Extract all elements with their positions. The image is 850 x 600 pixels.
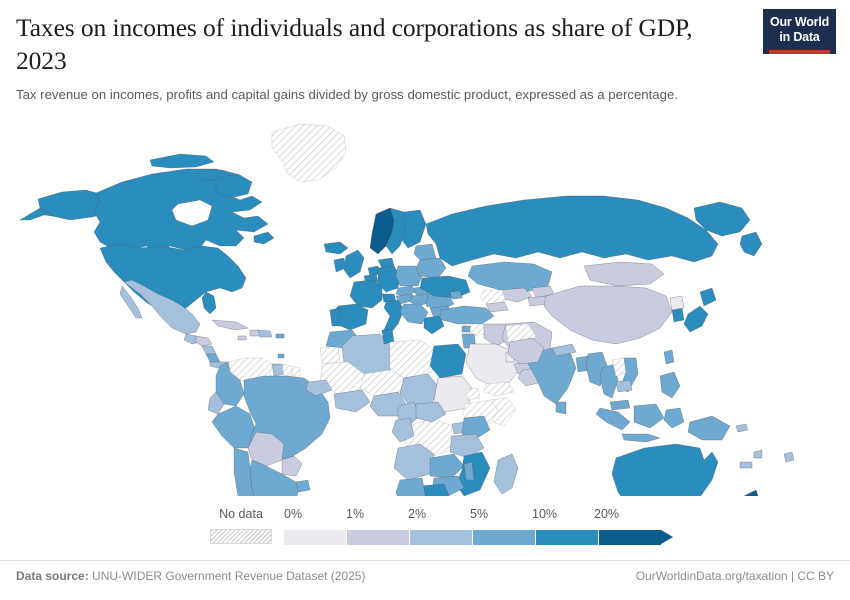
- country-canada-arctic-1[interactable]: [150, 154, 214, 168]
- country-lebanon[interactable]: [462, 326, 470, 332]
- legend-bin-5[interactable]: [598, 530, 661, 545]
- map-countries: [20, 124, 794, 496]
- country-puerto-rico[interactable]: [276, 334, 284, 338]
- country-taiwan[interactable]: [664, 350, 674, 364]
- country-nepal[interactable]: [552, 344, 576, 356]
- country-egypt[interactable]: [430, 344, 466, 378]
- country-jamaica[interactable]: [238, 336, 246, 340]
- legend-tick-3: 5%: [470, 508, 488, 521]
- chart-header: Taxes on incomes of individuals and corp…: [0, 0, 850, 105]
- world-choropleth-map[interactable]: [0, 96, 850, 496]
- country-indonesia-sumatra[interactable]: [596, 408, 630, 430]
- country-italy[interactable]: [384, 300, 404, 334]
- legend-tick-row: 0% 1% 2% 5% 10% 20%: [284, 508, 673, 524]
- data-source-text: UNU-WIDER Government Revenue Dataset (20…: [89, 569, 366, 583]
- country-nicaragua[interactable]: [202, 346, 216, 354]
- map-legend: No data 0% 1% 2% 5% 10% 20%: [0, 508, 850, 554]
- country-south-korea[interactable]: [672, 308, 684, 322]
- map-svg: [0, 96, 850, 496]
- country-chad[interactable]: [400, 374, 438, 406]
- country-honduras[interactable]: [196, 336, 212, 346]
- country-portugal[interactable]: [330, 308, 340, 326]
- country-uruguay[interactable]: [296, 480, 310, 492]
- legend-tick-4: 10%: [532, 508, 557, 521]
- country-georgia-armenia[interactable]: [486, 302, 508, 312]
- owid-logo-line1: Our World: [769, 15, 830, 30]
- legend-tick-5: 20%: [594, 508, 619, 521]
- country-czechia[interactable]: [396, 286, 416, 296]
- legend-arrow-cap-icon: [661, 530, 673, 544]
- country-baltics[interactable]: [414, 244, 436, 260]
- legend-bin-3[interactable]: [472, 530, 535, 545]
- country-iceland[interactable]: [324, 242, 348, 254]
- owid-chart: Taxes on incomes of individuals and corp…: [0, 0, 850, 600]
- country-china[interactable]: [544, 286, 672, 344]
- legend-inner: No data 0% 1% 2% 5% 10% 20%: [210, 508, 673, 545]
- country-canada-baffin[interactable]: [216, 174, 252, 198]
- country-united-kingdom[interactable]: [344, 250, 364, 278]
- country-greece[interactable]: [424, 316, 444, 334]
- country-indonesia-sulawesi[interactable]: [664, 408, 684, 428]
- country-ghana-ivory[interactable]: [334, 390, 370, 412]
- owid-logo[interactable]: Our World in Data: [763, 9, 836, 54]
- legend-color-bar: [284, 530, 673, 545]
- country-indonesia-borneo[interactable]: [634, 404, 664, 428]
- country-trinidad[interactable]: [278, 354, 284, 358]
- country-mongolia[interactable]: [584, 262, 664, 286]
- legend-tick-2: 2%: [408, 508, 426, 521]
- legend-bin-4[interactable]: [535, 530, 598, 545]
- owid-logo-line2: in Data: [769, 30, 830, 45]
- page-title: Taxes on incomes of individuals and corp…: [16, 12, 746, 77]
- country-libya[interactable]: [390, 340, 434, 378]
- data-source-label: Data source:: [16, 569, 89, 583]
- owid-logo-rule: [769, 50, 830, 54]
- country-fiji[interactable]: [784, 452, 794, 462]
- country-french-guiana[interactable]: [292, 366, 300, 376]
- country-cambodia[interactable]: [616, 380, 632, 392]
- country-turkey[interactable]: [440, 306, 494, 324]
- legend-scale[interactable]: 0% 1% 2% 5% 10% 20%: [284, 508, 673, 545]
- country-japan-north[interactable]: [700, 288, 716, 306]
- country-papua-new-guinea[interactable]: [688, 416, 730, 440]
- legend-no-data[interactable]: No data: [210, 508, 272, 544]
- country-philippines[interactable]: [660, 372, 680, 398]
- country-vanuatu[interactable]: [754, 450, 762, 458]
- country-new-zealand-north[interactable]: [742, 490, 760, 496]
- country-costa-rica[interactable]: [206, 354, 220, 362]
- legend-tick-0: 0%: [284, 508, 302, 521]
- country-north-korea[interactable]: [670, 296, 684, 310]
- country-belarus[interactable]: [416, 258, 446, 278]
- legend-no-data-label: No data: [210, 508, 272, 521]
- country-moldova[interactable]: [450, 291, 462, 299]
- legend-bin-1[interactable]: [346, 530, 409, 545]
- country-france[interactable]: [350, 280, 382, 308]
- country-dominican-republic[interactable]: [258, 330, 272, 337]
- country-russia[interactable]: [426, 196, 718, 266]
- country-canada-newfoundland[interactable]: [254, 232, 274, 244]
- country-namibia[interactable]: [396, 478, 426, 496]
- country-us-florida[interactable]: [202, 292, 216, 314]
- country-australia[interactable]: [612, 444, 718, 496]
- country-russia-kamchatka[interactable]: [740, 232, 762, 256]
- country-finland[interactable]: [402, 210, 426, 248]
- legend-no-data-swatch: [210, 529, 272, 544]
- country-zambia[interactable]: [430, 454, 464, 478]
- country-indonesia-java[interactable]: [622, 434, 660, 442]
- country-cuba[interactable]: [212, 320, 248, 330]
- country-western-sahara[interactable]: [320, 346, 340, 364]
- country-yemen[interactable]: [484, 382, 514, 396]
- country-solomon-islands[interactable]: [736, 424, 748, 432]
- data-source: Data source: UNU-WIDER Government Revenu…: [16, 570, 365, 582]
- legend-bin-2[interactable]: [409, 530, 472, 545]
- country-sri-lanka[interactable]: [556, 402, 566, 414]
- country-balkans[interactable]: [400, 304, 428, 324]
- legend-tick-1: 1%: [346, 508, 364, 521]
- country-new-caledonia[interactable]: [740, 462, 752, 468]
- chart-footer: Data source: UNU-WIDER Government Revenu…: [0, 561, 850, 591]
- country-greenland[interactable]: [272, 124, 346, 182]
- country-madagascar[interactable]: [494, 454, 518, 494]
- country-paraguay[interactable]: [282, 456, 302, 476]
- country-eritrea[interactable]: [466, 388, 480, 400]
- attribution-link[interactable]: OurWorldinData.org/taxation | CC BY: [636, 570, 834, 582]
- legend-bin-0[interactable]: [284, 530, 346, 545]
- country-malaysia[interactable]: [610, 400, 630, 410]
- country-japan[interactable]: [684, 306, 708, 332]
